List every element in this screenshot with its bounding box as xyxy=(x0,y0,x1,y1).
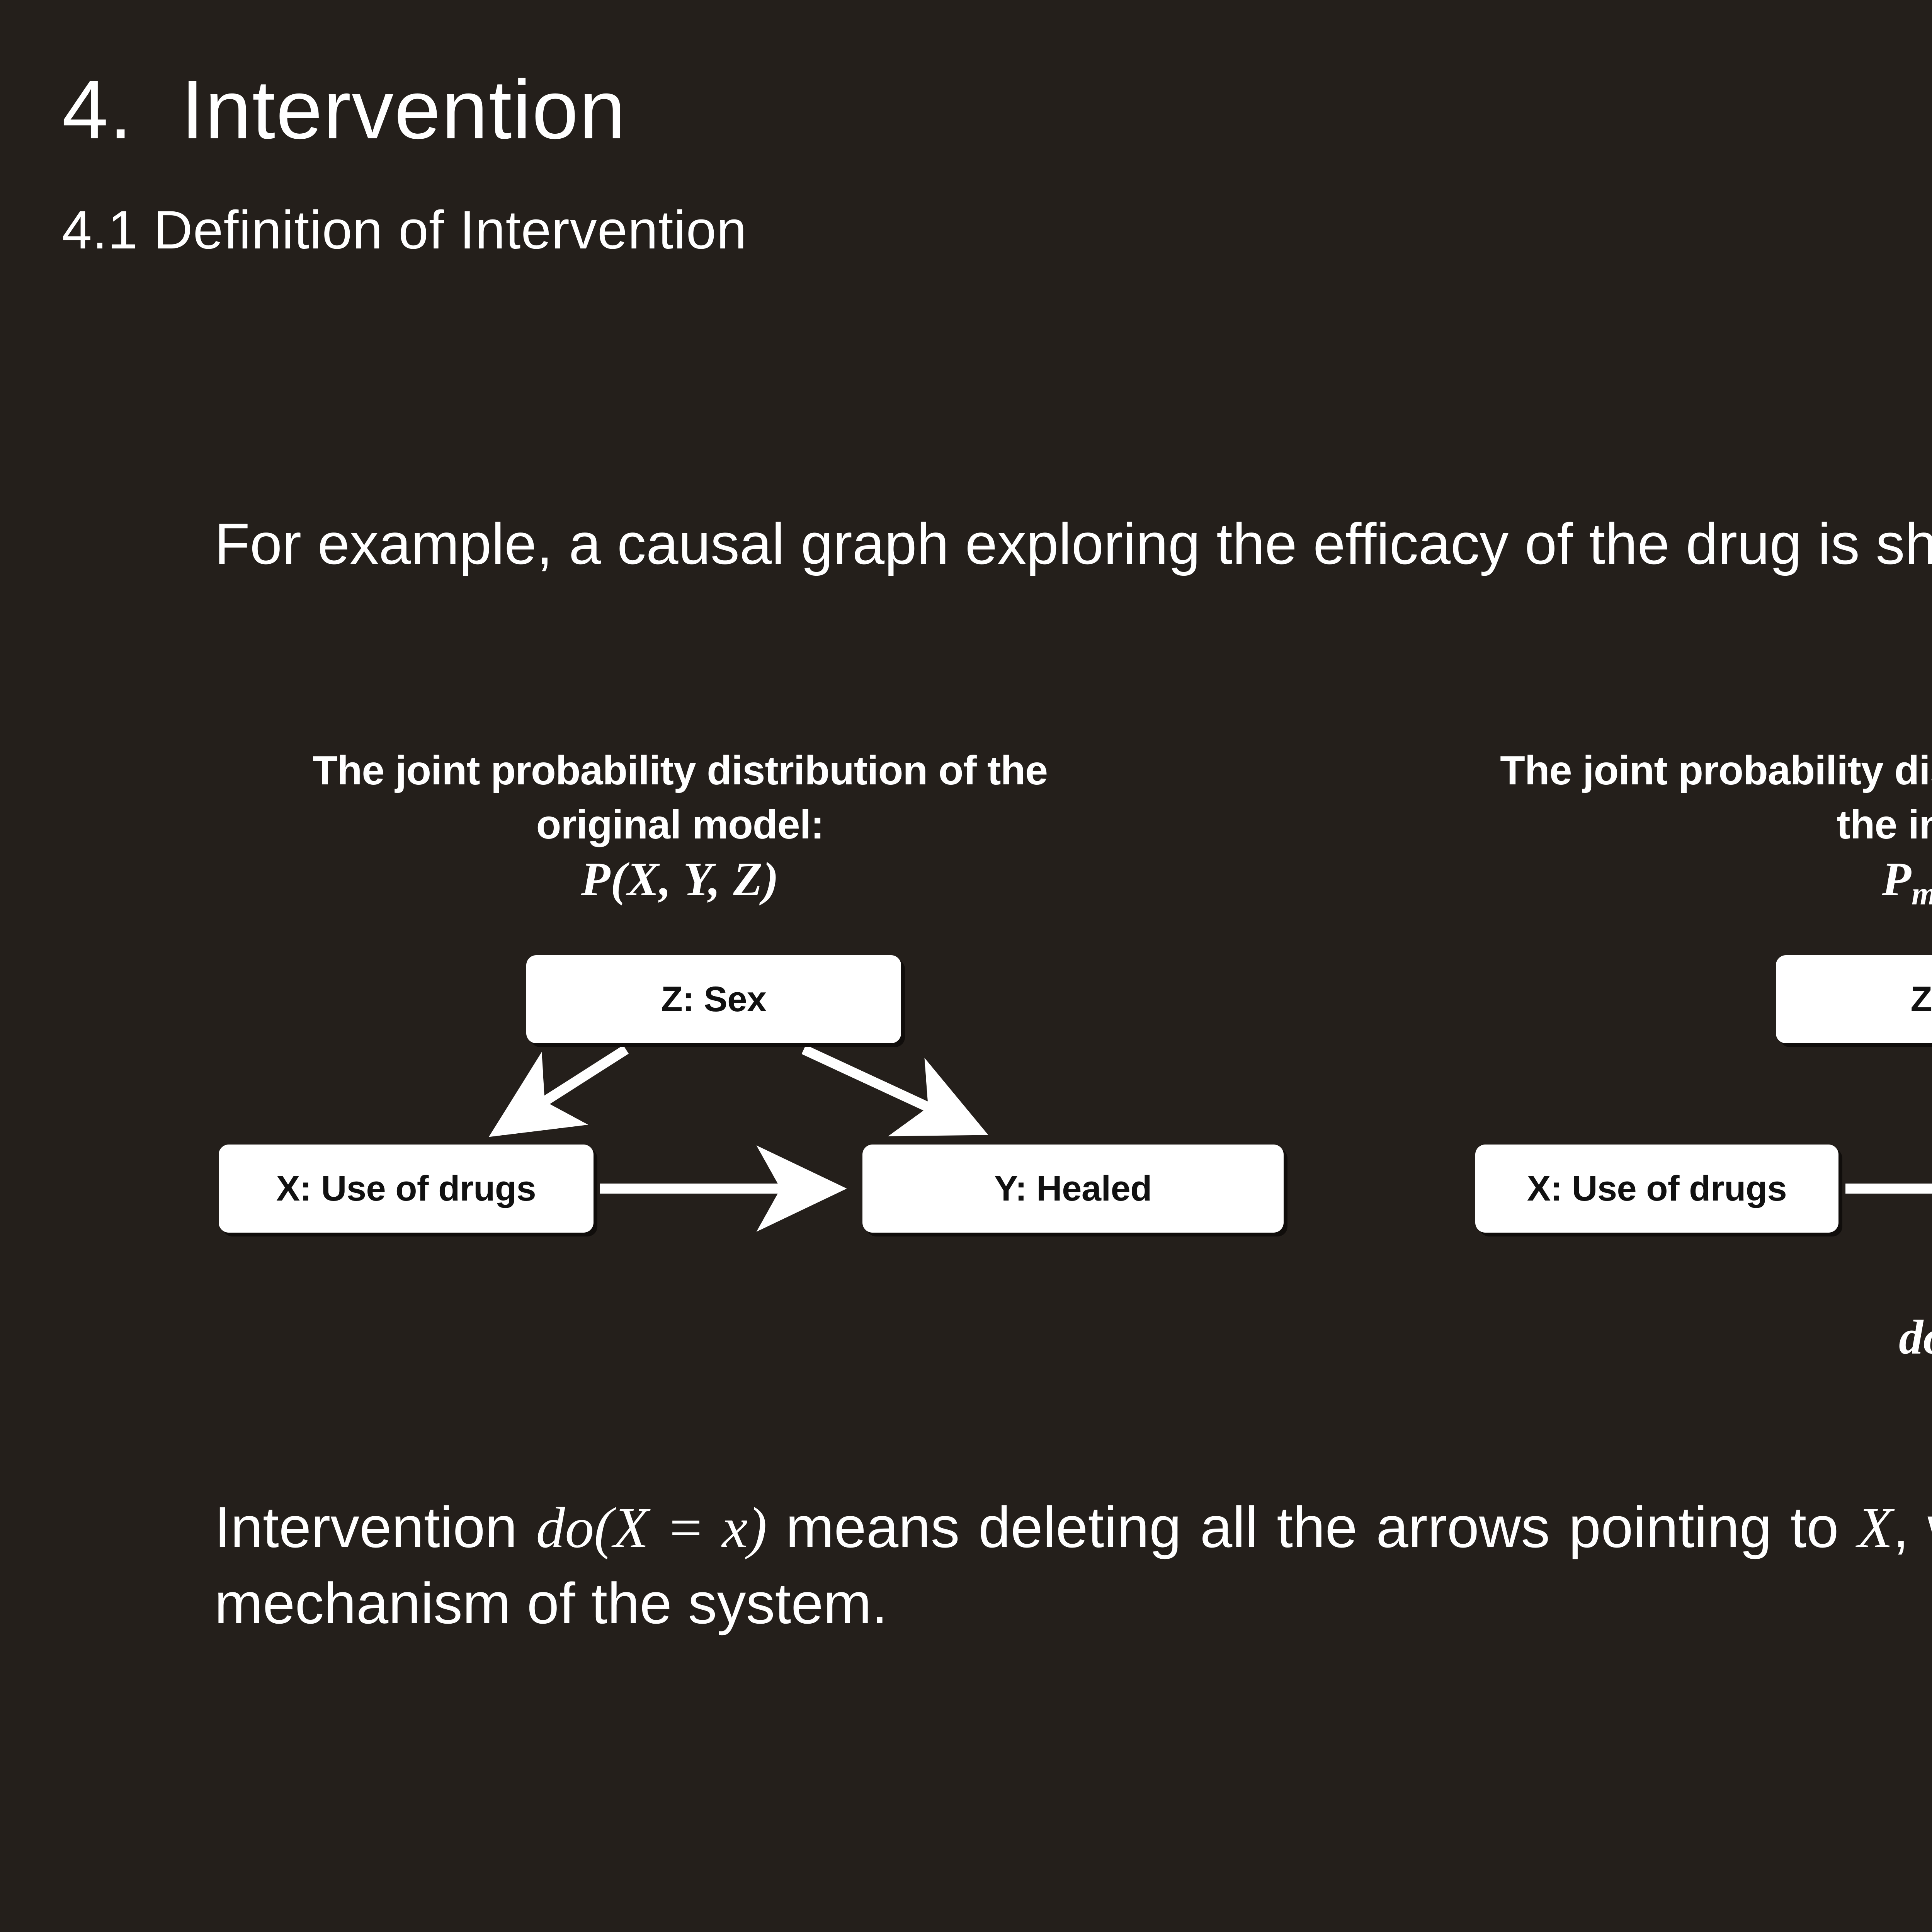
node-z-sex-right[interactable]: Z: Sex xyxy=(1776,955,1932,1043)
node-x-use-of-drugs-left[interactable]: X: Use of drugs xyxy=(219,1145,594,1233)
do-operator-label: do(X = x) xyxy=(1476,1310,1932,1366)
edge-z-to-y-left xyxy=(804,1049,974,1128)
node-x-use-of-drugs-right[interactable]: X: Use of drugs xyxy=(1475,1145,1838,1233)
outro-text-1: Intervention xyxy=(214,1495,536,1560)
node-y-healed-left[interactable]: Y: Healed xyxy=(862,1145,1284,1233)
outro-text-2: means deleting all the arrows pointing t… xyxy=(767,1495,1857,1560)
page-title: 4. Intervention xyxy=(62,68,626,151)
graph-edges xyxy=(0,742,1932,1476)
intro-paragraph: For example, a causal graph exploring th… xyxy=(214,506,1932,582)
page-subtitle: 4.1 Definition of Intervention xyxy=(62,203,747,257)
outro-math-x: X xyxy=(1857,1496,1893,1560)
edge-z-to-x-left xyxy=(502,1049,626,1128)
outro-math-do: do(X = x) xyxy=(536,1496,767,1560)
node-z-sex-left[interactable]: Z: Sex xyxy=(526,955,901,1043)
causal-graph-figure: The joint probability distribution of th… xyxy=(0,742,1932,1476)
outro-paragraph: Intervention do(X = x) means deleting al… xyxy=(214,1490,1932,1641)
